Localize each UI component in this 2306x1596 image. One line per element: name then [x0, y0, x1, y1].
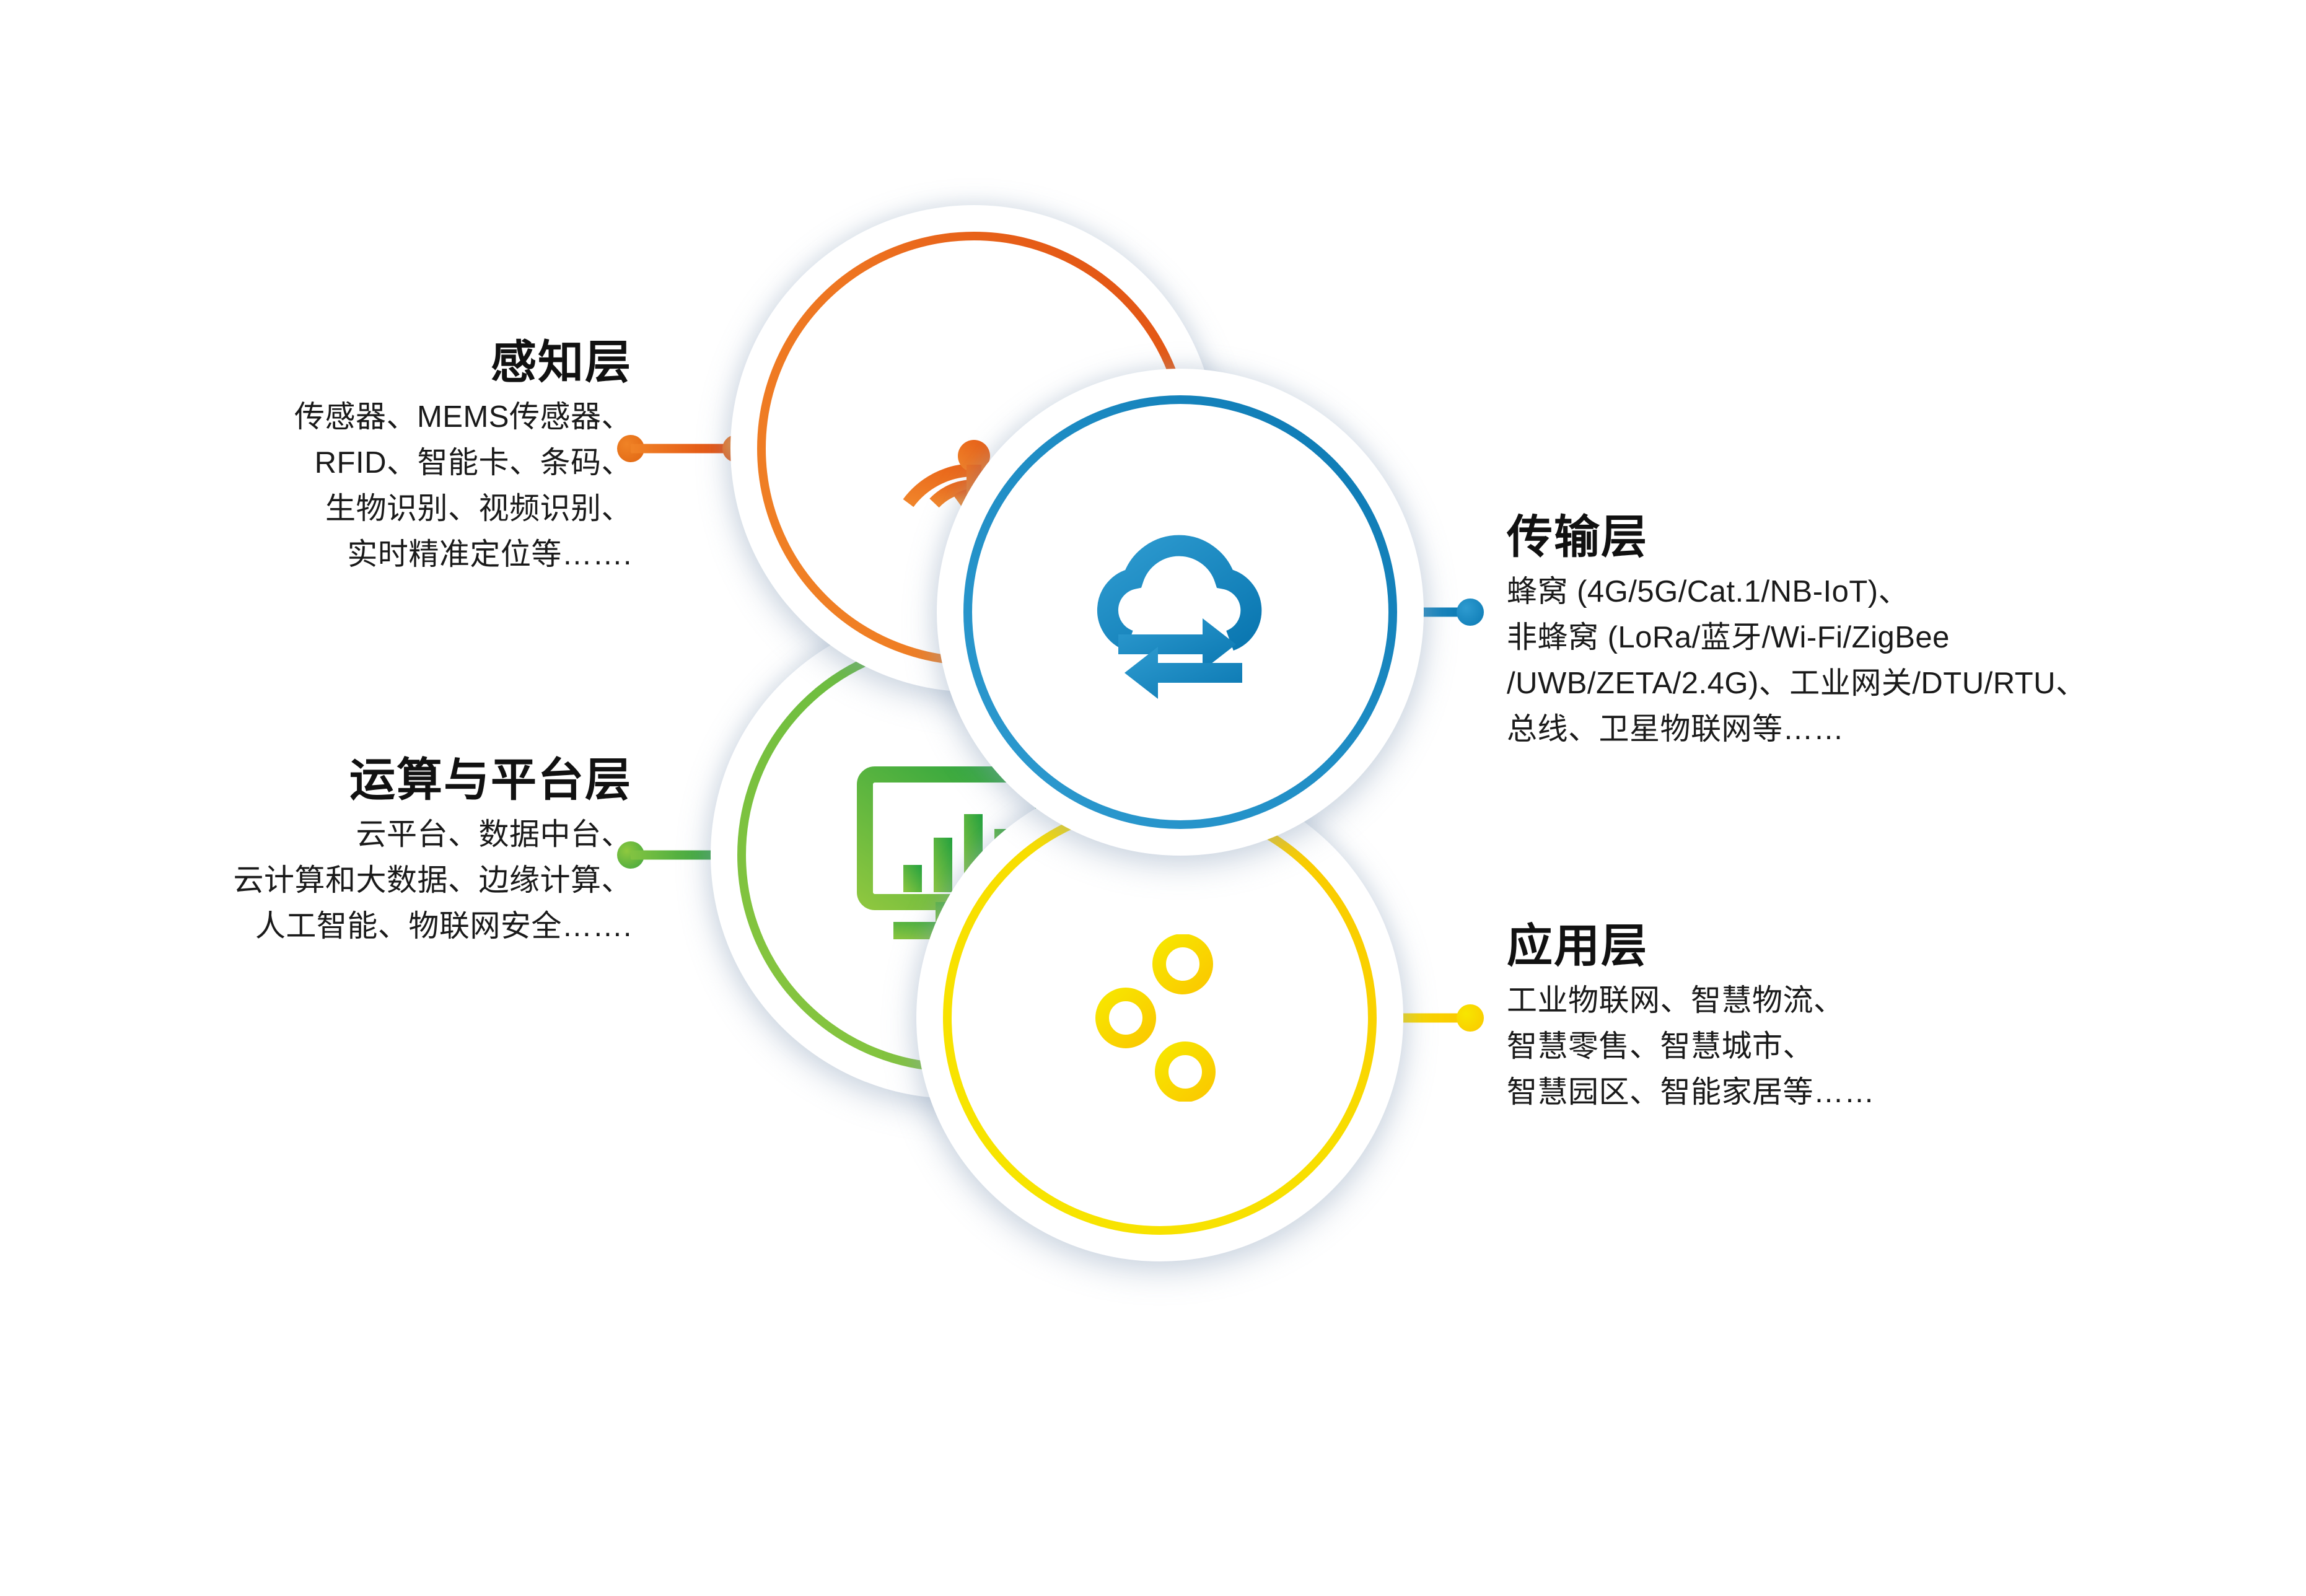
body-transport: 蜂窝 (4G/5G/Cat.1/NB-IoT)、 非蜂窝 (LoRa/蓝牙/Wi…: [1507, 569, 2263, 752]
text-block-app: 应用层 工业物联网、智慧物流、 智慧零售、智慧城市、 智慧园区、智能家居等……: [1507, 923, 2219, 1115]
text-block-compute: 运算与平台层 云平台、数据中台、 云计算和大数据、边缘计算、 人工智能、物联网安…: [105, 757, 632, 949]
heading-app: 应用层: [1507, 923, 2219, 969]
cloud-transfer-icon: [1081, 519, 1279, 705]
connector-bar: [631, 444, 736, 454]
body-app: 工业物联网、智慧物流、 智慧零售、智慧城市、 智慧园区、智能家居等……: [1507, 978, 2219, 1115]
text-block-sensing: 感知层 传感器、MEMS传感器、 RFID、智能卡、条码、 生物识别、视频识别、…: [186, 340, 632, 577]
connector-dot-outer: [1457, 598, 1484, 626]
connector-dot-outer: [1457, 1004, 1484, 1032]
connector-sensing: [617, 435, 750, 462]
infographic-canvas: 感知层 传感器、MEMS传感器、 RFID、智能卡、条码、 生物识别、视频识别、…: [0, 0, 2306, 1596]
body-sensing: 传感器、MEMS传感器、 RFID、智能卡、条码、 生物识别、视频识别、 实时精…: [186, 394, 632, 577]
heading-compute: 运算与平台层: [105, 757, 632, 803]
sliders-settings-icon: [1064, 934, 1256, 1102]
node-transport[interactable]: [937, 369, 1424, 856]
heading-sensing: 感知层: [186, 340, 632, 385]
body-compute: 云平台、数据中台、 云计算和大数据、边缘计算、 人工智能、物联网安全…….: [105, 812, 632, 949]
heading-transport: 传输层: [1507, 514, 2263, 560]
text-block-transport: 传输层 蜂窝 (4G/5G/Cat.1/NB-IoT)、 非蜂窝 (LoRa/蓝…: [1507, 514, 2263, 752]
